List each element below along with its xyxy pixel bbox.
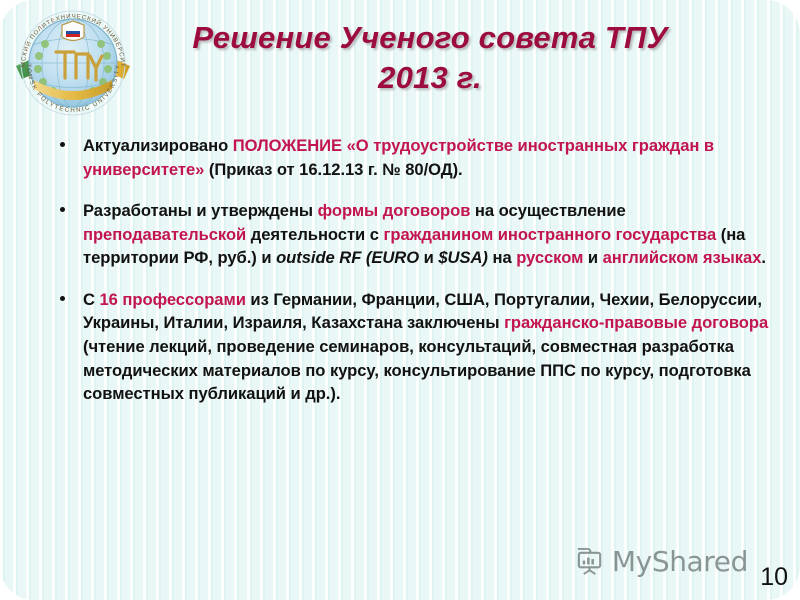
text-run: формы договоров — [318, 201, 471, 220]
text-run: на осуществление — [470, 201, 625, 220]
slide-title-line-1: Решение Ученого совета ТПУ — [150, 18, 710, 58]
text-run: (чтение лекций, проведение семинаров, ко… — [83, 337, 751, 403]
text-run: (Приказ от 16.12.13 г. № 80/ОД). — [204, 160, 462, 179]
list-item: Разработаны и утверждены формы договоров… — [60, 199, 780, 270]
tpu-logo: ТОМСКИЙ ПОЛИТЕХНИЧЕСКИЙ УНИВЕРСИТЕТ TOMS… — [12, 6, 134, 124]
text-run: 16 профессорами — [100, 290, 246, 309]
bullet-dot-icon — [60, 199, 83, 212]
list-item: Актуализировано ПОЛОЖЕНИЕ «О трудоустрой… — [60, 134, 780, 181]
crest-shield — [62, 21, 84, 41]
text-run: английском языках — [603, 248, 762, 267]
text-run: Актуализировано — [83, 136, 233, 155]
slide-canvas: ТОМСКИЙ ПОЛИТЕХНИЧЕСКИЙ УНИВЕРСИТЕТ TOMS… — [0, 0, 800, 600]
text-run: русском — [516, 248, 583, 267]
slide-title-line-2: 2013 г. — [150, 58, 710, 98]
text-run: $USA) — [438, 248, 488, 267]
text-run: гражданско-правовые договора — [504, 313, 768, 332]
bullet-1-text: Актуализировано ПОЛОЖЕНИЕ «О трудоустрой… — [83, 134, 780, 181]
text-run: Разработаны и утверждены — [83, 201, 318, 220]
text-run: и — [583, 248, 602, 267]
text-run: гражданином иностранного государства — [384, 225, 717, 244]
page-number: 10 — [760, 563, 788, 592]
bullet-dot-icon — [60, 288, 83, 301]
text-run: . — [761, 248, 766, 267]
bullet-3-text: С 16 профессорами из Германии, Франции, … — [83, 288, 780, 406]
text-run: С — [83, 290, 100, 309]
list-item: С 16 профессорами из Германии, Франции, … — [60, 288, 780, 406]
myshared-watermark: MyShared — [574, 545, 748, 578]
text-run: на — [488, 248, 516, 267]
presentation-chart-icon — [574, 546, 605, 577]
text-run: преподавательской — [83, 225, 246, 244]
myshared-label: MyShared — [612, 545, 748, 578]
bullet-dot-icon — [60, 134, 83, 147]
text-run: outside RF (EURO — [276, 248, 419, 267]
slide-title: Решение Ученого совета ТПУ 2013 г. — [150, 18, 710, 99]
text-run: деятельности с — [246, 225, 383, 244]
text-run: и — [419, 248, 438, 267]
bullet-list: Актуализировано ПОЛОЖЕНИЕ «О трудоустрой… — [60, 134, 780, 424]
bullet-2-text: Разработаны и утверждены формы договоров… — [83, 199, 780, 270]
